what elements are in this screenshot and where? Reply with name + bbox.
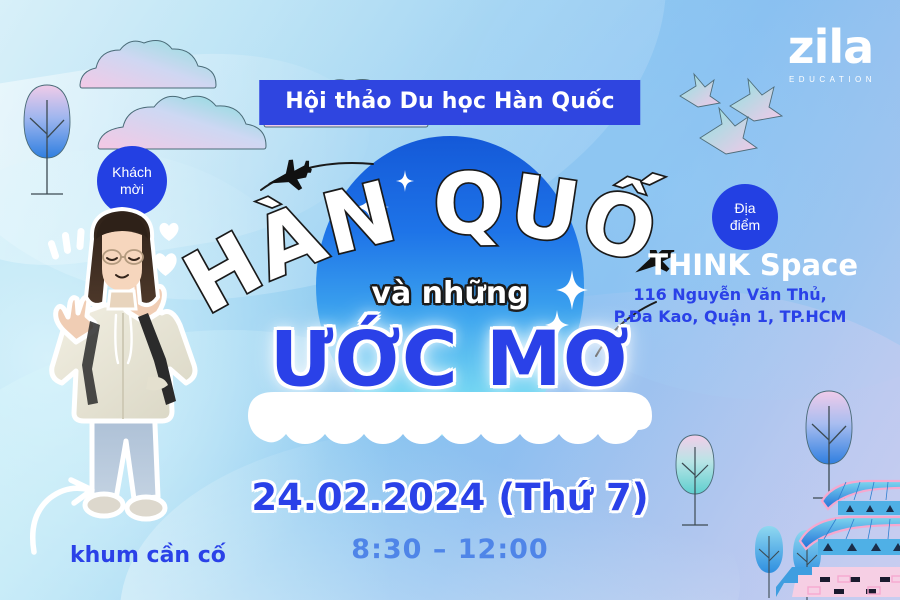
venue-address-line2: P.Đa Kao, Quận 1, TP.HCM <box>600 306 860 328</box>
heart-icon <box>152 252 179 282</box>
zila-logo: zila EDUCATION <box>785 24 876 84</box>
logo-wordmark: zila <box>785 24 876 70</box>
venue-address: 116 Nguyễn Văn Thủ, P.Đa Kao, Quận 1, TP… <box>600 284 860 327</box>
motion-marks-icon <box>48 226 92 271</box>
dream-text: ƯỚC MƠ <box>270 314 630 403</box>
venue-name: THINK Space <box>648 248 858 282</box>
logo-tagline: EDUCATION <box>785 75 876 84</box>
subtitle-text: và những <box>371 276 528 311</box>
cloud-icon <box>78 38 218 94</box>
event-date: 24.02.2024 (Thứ 7) <box>251 476 648 519</box>
event-poster: Hội thảo Du học Hàn Quốc zila EDUCATION <box>0 0 900 600</box>
heart-icon <box>158 222 180 247</box>
event-type-chip: Hội thảo Du học Hàn Quốc <box>259 80 640 125</box>
guest-caption: khum cần cố <box>70 543 226 568</box>
venue-badge: Địa điểm <box>712 184 778 250</box>
tree-icon <box>18 82 76 207</box>
venue-badge-line1: Địa <box>734 200 755 216</box>
cloud-icon <box>96 93 268 155</box>
venue-address-line1: 116 Nguyễn Văn Thủ, <box>600 284 860 306</box>
birds-icon <box>672 66 792 171</box>
event-time: 8:30 – 12:00 <box>351 534 548 565</box>
venue-badge-line2: điểm <box>730 217 760 233</box>
guest-badge-line2: mời <box>120 181 144 197</box>
guest-badge-line1: Khách <box>112 164 152 180</box>
tree-icon <box>672 432 718 537</box>
korean-palace-icon <box>776 479 900 600</box>
